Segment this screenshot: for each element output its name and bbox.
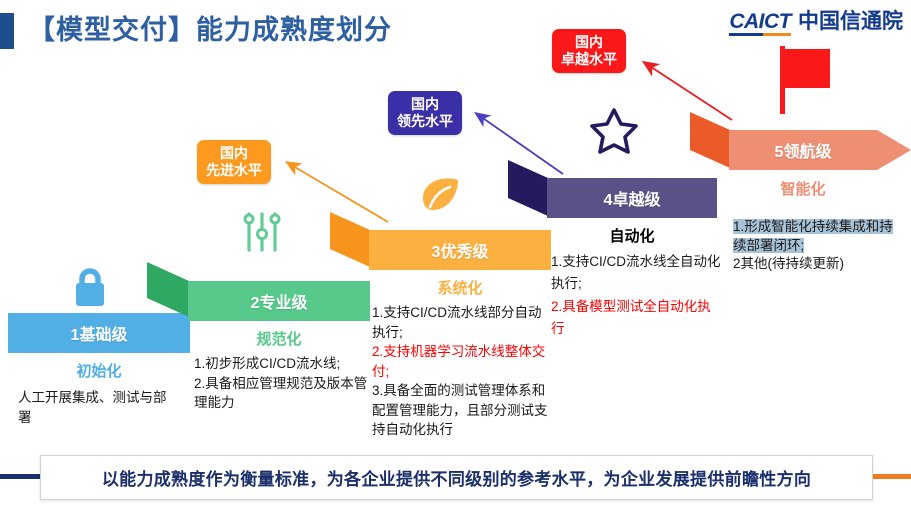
level-2-desc: 1.初步形成CI/CD流水线; 2.具备相应管理规范及版本管理能力: [194, 354, 372, 413]
badge-leading-line1: 国内: [397, 96, 453, 113]
level-4-item-2: 2.具备模型测试全自动化执行: [551, 296, 723, 341]
bottom-banner: 以能力成熟度作为衡量标准，为各企业提供不同级别的参考水平，为企业发展提供前瞻性方…: [40, 455, 873, 500]
slide-canvas: 【模型交付】能力成熟度划分 CAICT 中国信通院 国内 先进: [0, 0, 911, 510]
level-1-sublabel: 初始化: [8, 360, 190, 381]
banner-text: 以能力成熟度作为衡量标准，为各企业提供不同级别的参考水平，为企业发展提供前瞻性方…: [102, 465, 811, 490]
level-3-title: 3优秀级: [369, 230, 551, 270]
level-3-side-face: [330, 212, 370, 267]
level-3-item-2: 2.支持机器学习流水线整体交付;: [372, 342, 554, 381]
level-3-item-1: 1.支持CI/CD流水线部分自动执行;: [372, 303, 554, 342]
level-4-sublabel: 自动化: [547, 225, 717, 246]
lock-icon: [71, 265, 109, 309]
level-5-item-1: 1.形成智能化持续集成和持续部署闭环;: [733, 218, 895, 255]
badge-advanced[interactable]: 国内 先进水平: [197, 140, 271, 184]
level-4-title: 4卓越级: [547, 178, 717, 218]
level-4-side-face: [508, 160, 548, 216]
leaf-icon: [416, 176, 464, 220]
badge-excellent-line1: 国内: [561, 34, 617, 51]
level-2-item-1: 1.初步形成CI/CD流水线;: [194, 354, 372, 374]
level-5-sublabel: 智能化: [729, 178, 877, 199]
level-5-side-face: [690, 112, 730, 168]
level-1-title: 1基础级: [8, 313, 190, 353]
level-5-title: 5领航级: [729, 130, 877, 170]
sliders-icon: [238, 208, 286, 256]
level-1-desc: 人工开展集成、测试与部署: [18, 388, 178, 427]
badge-excellent-line2: 卓越水平: [561, 51, 617, 68]
level-3-item-3: 3.具备全面的测试管理体系和配置管理能力，且部分测试支持自动化执行: [372, 381, 554, 440]
level-3-desc: 1.支持CI/CD流水线部分自动执行; 2.支持机器学习流水线整体交付; 3.具…: [372, 303, 554, 440]
badge-advanced-line2: 先进水平: [206, 162, 262, 179]
level-1-item-1: 人工开展集成、测试与部署: [18, 388, 178, 427]
badge-advanced-line1: 国内: [206, 145, 262, 162]
level-4-item-1: 1.支持CI/CD流水线全自动化执行;: [551, 251, 723, 296]
badge-leading-line2: 领先水平: [397, 113, 453, 130]
badge-excellent[interactable]: 国内 卓越水平: [552, 29, 626, 73]
level-4-desc: 1.支持CI/CD流水线全自动化执行; 2.具备模型测试全自动化执行: [551, 251, 723, 340]
level-2-side-face: [147, 262, 189, 317]
level-2-title: 2专业级: [188, 281, 370, 321]
flag-icon: [780, 46, 838, 114]
level-3-sublabel: 系统化: [369, 277, 551, 298]
level-2-sublabel: 规范化: [188, 328, 370, 349]
level-5-desc: 1.形成智能化持续集成和持续部署闭环; 2其他(待持续更新): [733, 218, 895, 274]
star-icon: [588, 106, 640, 156]
level-2-item-2: 2.具备相应管理规范及版本管理能力: [194, 374, 372, 413]
badge-leading[interactable]: 国内 领先水平: [388, 91, 462, 135]
level-5-item-2: 2其他(待持续更新): [733, 255, 895, 274]
